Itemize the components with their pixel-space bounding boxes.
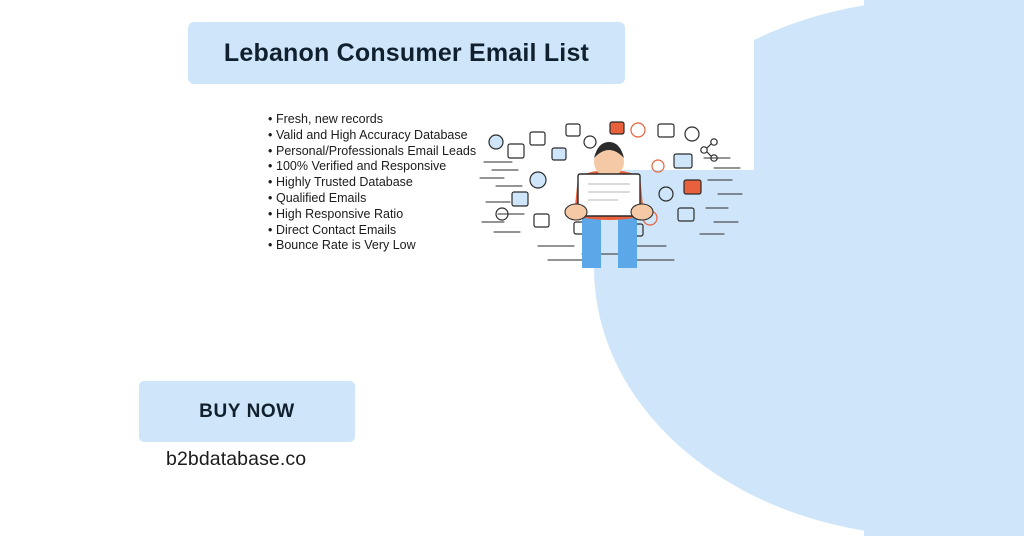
- feature-label: Highly Trusted Database: [276, 175, 413, 189]
- bullet-icon: •: [268, 238, 276, 253]
- feature-list: •Fresh, new records •Valid and High Accu…: [268, 112, 498, 254]
- background-shape-right-fill: [864, 0, 1024, 536]
- list-item: •Fresh, new records: [268, 112, 498, 127]
- buy-now-button[interactable]: BUY NOW: [139, 381, 355, 442]
- bullet-icon: •: [268, 207, 276, 222]
- bullet-icon: •: [268, 223, 276, 238]
- feature-label: Qualified Emails: [276, 191, 366, 205]
- list-item: •Highly Trusted Database: [268, 175, 498, 190]
- bullet-icon: •: [268, 144, 276, 159]
- page-title-card: Lebanon Consumer Email List: [188, 22, 625, 84]
- promo-banner: Lebanon Consumer Email List •Fresh, new …: [0, 0, 1024, 536]
- bullet-icon: •: [268, 112, 276, 127]
- bullet-icon: •: [268, 175, 276, 190]
- email-marketing-illustration: [478, 118, 746, 268]
- list-item: •Qualified Emails: [268, 191, 498, 206]
- feature-label: 100% Verified and Responsive: [276, 159, 446, 173]
- bullet-icon: •: [268, 128, 276, 143]
- feature-label: Bounce Rate is Very Low: [276, 238, 416, 252]
- list-item: •Direct Contact Emails: [268, 223, 498, 238]
- bullet-icon: •: [268, 191, 276, 206]
- feature-label: Personal/Professionals Email Leads: [276, 144, 476, 158]
- list-item: •Personal/Professionals Email Leads: [268, 144, 498, 159]
- feature-label: Valid and High Accuracy Database: [276, 128, 468, 142]
- feature-label: High Responsive Ratio: [276, 207, 403, 221]
- website-url[interactable]: b2bdatabase.co: [166, 448, 306, 471]
- feature-label: Direct Contact Emails: [276, 223, 396, 237]
- buy-now-label: BUY NOW: [199, 401, 295, 423]
- feature-label: Fresh, new records: [276, 112, 383, 126]
- bullet-icon: •: [268, 159, 276, 174]
- list-item: •100% Verified and Responsive: [268, 159, 498, 174]
- list-item: •Bounce Rate is Very Low: [268, 238, 498, 253]
- page-title: Lebanon Consumer Email List: [224, 39, 589, 68]
- list-item: •High Responsive Ratio: [268, 207, 498, 222]
- list-item: •Valid and High Accuracy Database: [268, 128, 498, 143]
